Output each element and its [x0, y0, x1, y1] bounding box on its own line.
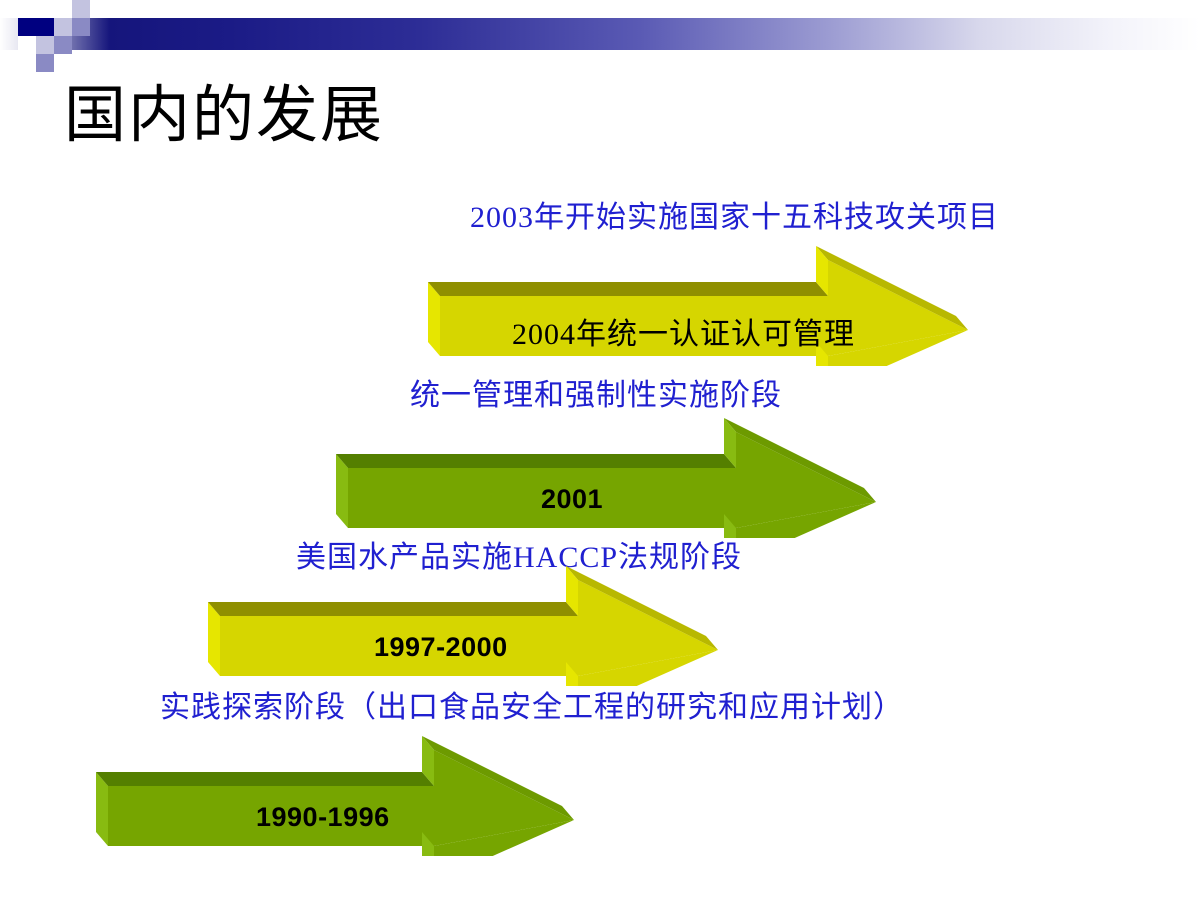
arrow-label-2001: 2001 [541, 484, 603, 515]
caption-step-2001: 统一管理和强制性实施阶段 [410, 370, 782, 414]
presentation-slide: 国内的发展 2003年开始实施国家十五科技攻关项目 [0, 0, 1200, 900]
timeline-arrow-diagram: 2003年开始实施国家十五科技攻关项目 2004年 [0, 0, 1200, 900]
arrow-step-2004: 2004年统一认证认可管理 [428, 246, 988, 366]
arrow-step-2001: 2001 [336, 418, 896, 538]
caption-step-1990-1996: 实践探索阶段（出口食品安全工程的研究和应用计划） [160, 682, 904, 726]
arrow-step-1990-1996: 1990-1996 [96, 736, 596, 856]
arrow-label-1997-2000: 1997-2000 [374, 632, 508, 663]
arrow-step-1997-2000: 1997-2000 [208, 566, 748, 686]
arrow-label-1990-1996: 1990-1996 [256, 802, 390, 833]
caption-step-2004: 2003年开始实施国家十五科技攻关项目 [470, 192, 999, 236]
arrow-label-2004: 2004年统一认证认可管理 [512, 309, 855, 353]
